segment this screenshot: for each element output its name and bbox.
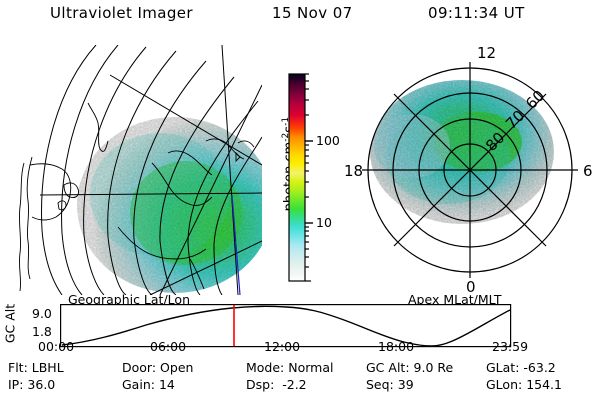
geographic-plot-svg bbox=[0, 45, 262, 295]
status-door: Door: Open bbox=[122, 360, 193, 375]
status-footer: Flt: LBHL Door: Open Mode: Normal GC Alt… bbox=[0, 360, 600, 400]
header-bar: Ultraviolet Imager 15 Nov 07 09:11:34 UT bbox=[0, 4, 600, 32]
colorbar[interactable]: photon cm-2s-1 bbox=[262, 60, 344, 292]
observation-time: 09:11:34 UT bbox=[428, 4, 525, 22]
status-glon: GLon: 154.1 bbox=[486, 377, 562, 392]
orbit-y-min-label: 1.8 bbox=[32, 324, 52, 339]
status-gcalt: GC Alt: 9.0 Re bbox=[366, 360, 453, 375]
mlt-label-6: 6 bbox=[583, 162, 593, 180]
apex-mlat-mlt-plot[interactable]: 12 18 6 0 60 70 80 bbox=[340, 42, 600, 297]
status-row-2: IP: 36.0 Gain: 14 Dsp: -2.2 Seq: 39 GLon… bbox=[0, 377, 600, 394]
mlt-label-18: 18 bbox=[344, 162, 363, 180]
apex-dial-svg: 12 18 6 0 60 70 80 bbox=[340, 42, 600, 297]
orbit-y-max-label: 9.0 bbox=[32, 306, 52, 321]
orbit-tick-1800: 18:00 bbox=[378, 339, 414, 354]
mlt-spokes bbox=[362, 62, 578, 278]
status-flt: Flt: LBHL bbox=[8, 360, 64, 375]
page-title: Ultraviolet Imager bbox=[50, 4, 193, 22]
colorbar-ticks bbox=[305, 74, 313, 281]
orbit-altitude-panel[interactable]: Geographic Lat/Lon Apex MLat/MLT GC Alt … bbox=[0, 292, 600, 354]
status-mode: Mode: Normal bbox=[246, 360, 334, 375]
colorbar-gradient bbox=[289, 74, 305, 281]
orbit-y-axis-label: GC Alt bbox=[3, 301, 18, 347]
orbit-tick-1200: 12:00 bbox=[264, 339, 300, 354]
status-ip: IP: 36.0 bbox=[8, 377, 55, 392]
uv-imager-window: Ultraviolet Imager 15 Nov 07 09:11:34 UT bbox=[0, 0, 600, 400]
mlt-label-12: 12 bbox=[477, 44, 496, 62]
status-glat: GLat: -63.2 bbox=[486, 360, 556, 375]
colorbar-tick-label-10: 10 bbox=[316, 215, 332, 230]
status-gain: Gain: 14 bbox=[122, 377, 175, 392]
aurora-emission-layer bbox=[77, 117, 262, 293]
observation-date: 15 Nov 07 bbox=[272, 4, 353, 22]
colorbar-tick-label-100: 100 bbox=[316, 133, 340, 148]
status-dsp: Dsp: -2.2 bbox=[246, 377, 307, 392]
orbit-tick-0000: 00:00 bbox=[38, 339, 74, 354]
colorbar-svg bbox=[262, 60, 344, 292]
status-row-1: Flt: LBHL Door: Open Mode: Normal GC Alt… bbox=[0, 360, 600, 377]
orbit-tick-2359: 23:59 bbox=[492, 339, 528, 354]
geographic-plot[interactable] bbox=[0, 45, 262, 295]
status-seq: Seq: 39 bbox=[366, 377, 414, 392]
orbit-tick-0600: 06:00 bbox=[150, 339, 186, 354]
